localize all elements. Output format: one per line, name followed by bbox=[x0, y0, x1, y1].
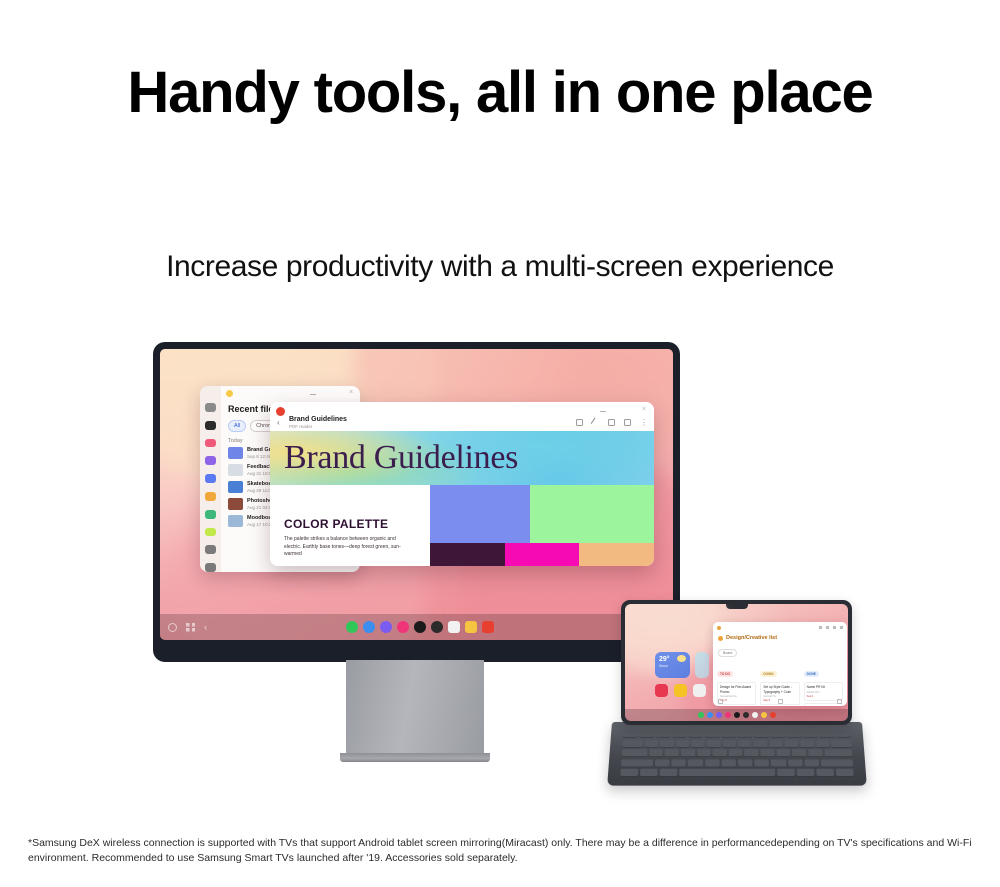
keyboard-key[interactable] bbox=[722, 739, 736, 746]
files-icon[interactable] bbox=[761, 712, 767, 718]
file-thumbnail bbox=[228, 481, 243, 493]
docs-icon[interactable] bbox=[205, 492, 216, 501]
tablet-notch bbox=[726, 604, 748, 609]
monitor-bezel: × Recent files AllChromeSamsung Today Br… bbox=[153, 342, 680, 662]
keyboard-key[interactable] bbox=[815, 739, 829, 746]
gallery-icon[interactable] bbox=[205, 456, 216, 465]
pdf-app-icon bbox=[276, 407, 285, 416]
maximize-icon[interactable] bbox=[833, 626, 836, 629]
keyboard-key[interactable] bbox=[738, 759, 753, 766]
taskbar-dock[interactable] bbox=[207, 621, 632, 633]
phone-icon[interactable] bbox=[698, 712, 704, 718]
file-thumbnail bbox=[228, 447, 243, 459]
keyboard-key[interactable] bbox=[722, 730, 736, 737]
board-emoji-icon bbox=[718, 636, 723, 641]
keyboard-key[interactable] bbox=[656, 730, 671, 737]
promo-page: Handy tools, all in one place Increase p… bbox=[0, 0, 1000, 887]
notes-app-icon[interactable] bbox=[693, 684, 706, 697]
camera-icon[interactable] bbox=[725, 712, 731, 718]
keyboard-key[interactable] bbox=[622, 739, 643, 746]
minimize-icon[interactable] bbox=[310, 392, 316, 395]
keyboard-row bbox=[620, 769, 853, 776]
minimize-icon[interactable] bbox=[600, 409, 606, 412]
window-controls[interactable]: × bbox=[310, 390, 355, 396]
swatch-row-bottom bbox=[430, 543, 654, 566]
keyboard-key[interactable] bbox=[792, 749, 806, 756]
task-board-title-row: Design/Creative list bbox=[713, 634, 847, 641]
keyboard-key[interactable] bbox=[754, 739, 768, 746]
apps-icon[interactable] bbox=[186, 623, 195, 632]
keyboard-key[interactable] bbox=[688, 759, 703, 766]
filter-chip-0[interactable]: All bbox=[228, 420, 246, 432]
files-titlebar[interactable]: × bbox=[221, 386, 360, 400]
keyboard-key[interactable] bbox=[769, 739, 783, 746]
swatch-row-top bbox=[430, 485, 654, 543]
task-board-window[interactable]: Design/Creative list Board TO DODesign f… bbox=[713, 622, 847, 706]
notes-icon[interactable] bbox=[752, 712, 758, 718]
keyboard-key[interactable] bbox=[705, 759, 720, 766]
back-icon[interactable]: ‹ bbox=[204, 622, 207, 632]
tablet-device: 29° Seoul bbox=[612, 600, 862, 790]
device-icon[interactable] bbox=[205, 545, 216, 554]
keyboard-key[interactable] bbox=[691, 739, 705, 746]
keyboard-key[interactable] bbox=[831, 739, 852, 746]
highlight-icon[interactable] bbox=[576, 419, 583, 426]
close-icon[interactable]: × bbox=[642, 407, 648, 413]
keyboard-key[interactable] bbox=[771, 759, 786, 766]
monitor-screen: × Recent files AllChromeSamsung Today Br… bbox=[160, 349, 673, 640]
keyboard-key[interactable] bbox=[680, 769, 775, 776]
file-thumbnail bbox=[228, 515, 243, 527]
browser-icon[interactable] bbox=[716, 712, 722, 718]
notes-icon[interactable] bbox=[448, 621, 460, 633]
folder-icon[interactable] bbox=[205, 528, 216, 537]
keyboard-key[interactable] bbox=[800, 739, 814, 746]
task-due-date: Sep 1 bbox=[807, 695, 840, 698]
pdf-window[interactable]: ‹ Brand Guidelines PDF reader × bbox=[270, 402, 654, 566]
keyboard-key[interactable] bbox=[738, 739, 752, 746]
status-badge: DONE bbox=[804, 671, 819, 677]
music-icon[interactable] bbox=[205, 474, 216, 483]
chrome-icon[interactable] bbox=[743, 712, 749, 718]
keyboard-key[interactable] bbox=[820, 730, 835, 737]
task-app-icon bbox=[717, 626, 721, 630]
weather-widget[interactable]: 29° Seoul bbox=[655, 652, 690, 678]
weather-location: Seoul bbox=[659, 664, 686, 668]
keyboard-key[interactable] bbox=[705, 730, 719, 737]
keyboard-key[interactable] bbox=[620, 769, 638, 776]
keyboard-row bbox=[622, 739, 851, 746]
search-icon[interactable] bbox=[718, 699, 723, 704]
messages-icon[interactable] bbox=[363, 621, 375, 633]
expand-icon[interactable] bbox=[837, 699, 842, 704]
keyboard-key[interactable] bbox=[655, 759, 670, 766]
pdf-hero-title: Brand Guidelines bbox=[270, 439, 518, 477]
keyboard-key[interactable] bbox=[649, 749, 663, 756]
keyboard-key[interactable] bbox=[621, 759, 653, 766]
task-assignee: Daniel Cho bbox=[807, 691, 840, 694]
save-icon[interactable] bbox=[624, 419, 631, 426]
color-swatch-grid bbox=[430, 485, 654, 566]
more-options-icon[interactable]: ⋮ bbox=[640, 419, 647, 426]
monitor-stand-base bbox=[340, 753, 490, 762]
board-filter-chip[interactable]: Board bbox=[718, 649, 737, 657]
pdf-icon[interactable] bbox=[482, 621, 494, 633]
tablet-bezel: 29° Seoul bbox=[621, 600, 852, 725]
resize-icon[interactable] bbox=[826, 626, 829, 629]
status-badge: DOING bbox=[760, 671, 776, 677]
back-icon[interactable]: ‹ bbox=[277, 418, 280, 427]
side-widget[interactable] bbox=[695, 652, 709, 678]
file-thumbnail bbox=[228, 498, 243, 510]
trash-icon[interactable] bbox=[205, 563, 216, 572]
close-icon[interactable] bbox=[840, 626, 843, 629]
task-window-titlebar[interactable] bbox=[713, 622, 847, 634]
keyboard-key[interactable] bbox=[784, 739, 798, 746]
files-sidebar[interactable] bbox=[200, 386, 221, 572]
keyboard-key[interactable] bbox=[808, 749, 822, 756]
keyboard-row bbox=[622, 749, 853, 756]
pdf-title: Brand Guidelines bbox=[289, 416, 347, 423]
keyboard-key[interactable] bbox=[697, 749, 711, 756]
task-board-title: Design/Creative list bbox=[726, 635, 777, 641]
color-swatch-mint-green bbox=[530, 485, 654, 543]
pdf-text-column: COLOR PALETTE The palette strikes a bala… bbox=[270, 485, 430, 566]
keyboard-key[interactable] bbox=[755, 759, 770, 766]
keyboard-key[interactable] bbox=[713, 749, 727, 756]
keyboard-key[interactable] bbox=[836, 769, 854, 776]
sun-icon bbox=[677, 655, 686, 662]
monitor-device: × Recent files AllChromeSamsung Today Br… bbox=[153, 342, 680, 662]
pdf-tools[interactable]: ⋮ bbox=[576, 419, 647, 426]
window-controls[interactable] bbox=[819, 626, 843, 629]
keyboard-key[interactable] bbox=[672, 730, 687, 737]
files-app-icon[interactable] bbox=[674, 684, 687, 697]
files-icon[interactable] bbox=[465, 621, 477, 633]
keyboard-key[interactable] bbox=[738, 730, 752, 737]
page-title: Handy tools, all in one place bbox=[0, 60, 1000, 126]
task-window-footer[interactable] bbox=[713, 699, 847, 704]
keyboard-key[interactable] bbox=[623, 730, 638, 737]
downloads-icon[interactable] bbox=[205, 510, 216, 519]
task-title: Design for Film Award Promo bbox=[720, 685, 753, 694]
taskbar-system-icons[interactable]: ‹ bbox=[168, 622, 207, 632]
pdf-hero-banner: Brand Guidelines bbox=[270, 431, 654, 485]
footnote-disclaimer: *Samsung DeX wireless connection is supp… bbox=[28, 836, 976, 866]
resize-icon[interactable] bbox=[323, 390, 329, 396]
resize-icon[interactable] bbox=[614, 407, 620, 413]
keyboard-key[interactable] bbox=[804, 759, 819, 766]
task-title: Name PR Kit bbox=[807, 685, 840, 690]
dot-icon[interactable] bbox=[734, 712, 740, 718]
keyboard-key[interactable] bbox=[821, 759, 853, 766]
pen-icon[interactable] bbox=[591, 418, 601, 428]
keyboard-row bbox=[621, 759, 853, 766]
keyboard-key[interactable] bbox=[689, 730, 704, 737]
page-subtitle: Increase productivity with a multi-scree… bbox=[0, 247, 1000, 287]
keyboard-key[interactable] bbox=[796, 769, 814, 776]
task-card[interactable]: Name PR KitDaniel ChoSep 1 bbox=[804, 682, 843, 701]
keyboard-key[interactable] bbox=[639, 730, 654, 737]
color-swatch-sun-warmed-peach bbox=[579, 543, 654, 566]
keyboard-key[interactable] bbox=[729, 749, 743, 756]
minimize-icon[interactable] bbox=[819, 626, 822, 629]
color-palette-heading: COLOR PALETTE bbox=[284, 517, 430, 531]
keyboard-key[interactable] bbox=[640, 769, 658, 776]
keyboard-key[interactable] bbox=[645, 739, 659, 746]
chrome-icon[interactable] bbox=[431, 621, 443, 633]
task-assignee: Samantha Kim bbox=[720, 695, 753, 698]
keyboard-key[interactable] bbox=[721, 759, 736, 766]
camera-icon[interactable] bbox=[397, 621, 409, 633]
pdf-toolbar[interactable]: ‹ Brand Guidelines PDF reader × bbox=[270, 402, 654, 431]
tablet-dock[interactable] bbox=[625, 709, 848, 721]
keyboard-key[interactable] bbox=[816, 769, 834, 776]
keyboard-key[interactable] bbox=[745, 749, 759, 756]
pdf-page-body: COLOR PALETTE The palette strikes a bala… bbox=[270, 485, 654, 566]
color-swatch-periwinkle bbox=[430, 485, 530, 543]
add-task-icon[interactable] bbox=[778, 699, 783, 704]
keyboard-key[interactable] bbox=[754, 730, 768, 737]
pdf-subtitle: PDF reader bbox=[289, 424, 312, 429]
messages-icon[interactable] bbox=[707, 712, 713, 718]
file-thumbnail bbox=[228, 464, 243, 476]
keyboard-key[interactable] bbox=[788, 759, 803, 766]
keyboard-key[interactable] bbox=[660, 739, 674, 746]
keyboard-key[interactable] bbox=[836, 730, 851, 737]
keyboard-key[interactable] bbox=[777, 769, 795, 776]
settings-dot-icon[interactable] bbox=[414, 621, 426, 633]
task-title: Email Blast bbox=[807, 706, 840, 707]
monitor-stand-neck bbox=[346, 660, 484, 755]
photos-icon[interactable] bbox=[205, 439, 216, 448]
pdf-icon[interactable] bbox=[770, 712, 776, 718]
keyboard-key[interactable] bbox=[681, 749, 695, 756]
search-icon[interactable] bbox=[168, 623, 177, 632]
task-title: Set up Style Guide - Typography + Color bbox=[763, 685, 796, 694]
keyboard-key[interactable] bbox=[676, 739, 690, 746]
maximize-icon[interactable] bbox=[336, 390, 342, 396]
phone-icon[interactable] bbox=[346, 621, 358, 633]
monitor-taskbar[interactable]: ‹ bbox=[160, 614, 673, 640]
apps-icon[interactable] bbox=[205, 421, 216, 430]
keyboard-key[interactable] bbox=[672, 759, 687, 766]
keyboard-key[interactable] bbox=[803, 730, 818, 737]
color-swatch-magenta bbox=[505, 543, 580, 566]
color-palette-body: The palette strikes a balance between or… bbox=[284, 536, 412, 559]
keyboard-key[interactable] bbox=[622, 749, 647, 756]
close-icon[interactable]: × bbox=[349, 390, 355, 396]
keyboard-key[interactable] bbox=[787, 730, 802, 737]
keyboard-key[interactable] bbox=[824, 749, 852, 756]
keyboard-key[interactable] bbox=[660, 769, 678, 776]
tablet-screen: 29° Seoul bbox=[625, 604, 848, 721]
color-swatch-deep-plum bbox=[430, 543, 505, 566]
crop-icon[interactable] bbox=[608, 419, 615, 426]
keyboard-key[interactable] bbox=[771, 730, 786, 737]
task-assignee: Hannah Yu bbox=[763, 695, 796, 698]
keyboard-key[interactable] bbox=[707, 739, 721, 746]
status-badge: TO DO bbox=[717, 671, 733, 677]
keyboard-key[interactable] bbox=[776, 749, 790, 756]
files-app-icon bbox=[226, 390, 233, 397]
window-controls[interactable]: × bbox=[600, 407, 648, 413]
browser-icon[interactable] bbox=[380, 621, 392, 633]
maximize-icon[interactable] bbox=[628, 407, 634, 413]
menu-icon[interactable] bbox=[205, 403, 216, 412]
keyboard-key[interactable] bbox=[665, 749, 679, 756]
pdf-app-icon[interactable] bbox=[655, 684, 668, 697]
keyboard-row bbox=[623, 730, 851, 737]
tablet-keyboard[interactable] bbox=[607, 722, 867, 786]
keyboard-key[interactable] bbox=[761, 749, 775, 756]
